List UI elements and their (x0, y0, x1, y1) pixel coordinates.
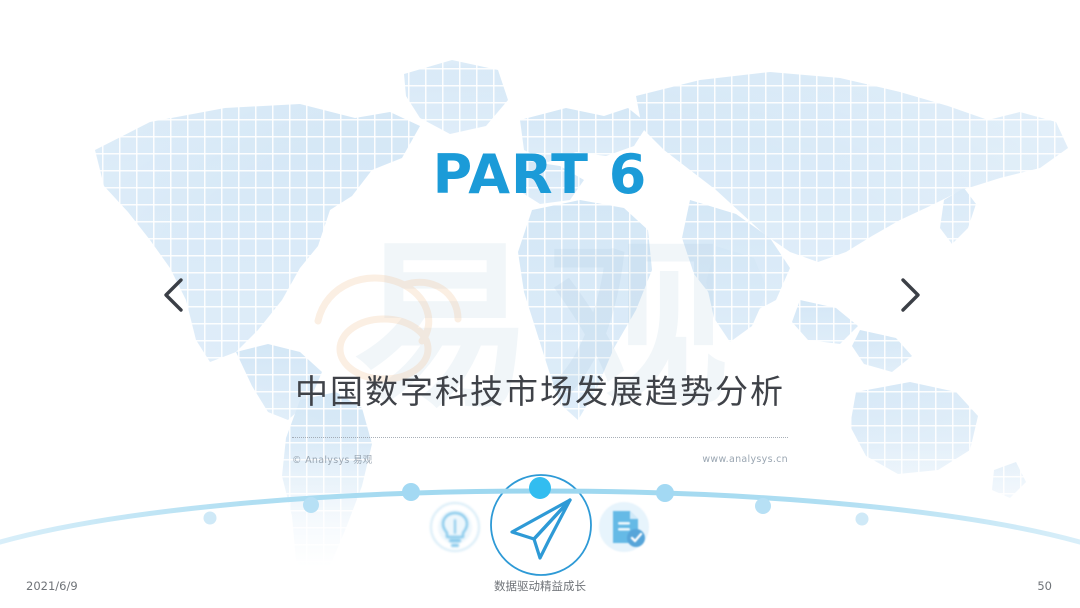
footer-page-number: 50 (1037, 579, 1052, 593)
progress-dot[interactable] (303, 497, 319, 513)
credits-row: © Analysys 易观 www.analysys.cn (292, 452, 788, 466)
map-fade-top (0, 0, 1080, 70)
chevron-left-icon[interactable] (152, 270, 196, 320)
copyright-label: © Analysys 易观 (292, 452, 373, 466)
slide-footer: 2021/6/9 数据驱动精益成长 50 (0, 564, 1080, 608)
progress-dot[interactable] (755, 498, 771, 514)
progress-dot[interactable] (656, 484, 674, 502)
dotted-divider (292, 437, 788, 439)
slide-root: 易观 PART 6 (0, 0, 1080, 608)
progress-dot[interactable] (402, 483, 420, 501)
website-label: www.analysys.cn (702, 454, 788, 465)
lightbulb-icon (424, 496, 486, 558)
chevron-right-icon[interactable] (888, 270, 932, 320)
progress-dot[interactable] (204, 512, 217, 525)
document-check-icon (593, 496, 655, 558)
footer-slogan: 数据驱动精益成长 (0, 578, 1080, 594)
part-label: PART 6 (0, 148, 1080, 202)
slide-headline: 中国数字科技市场发展趋势分析 (0, 372, 1080, 412)
progress-dot[interactable] (856, 513, 869, 526)
